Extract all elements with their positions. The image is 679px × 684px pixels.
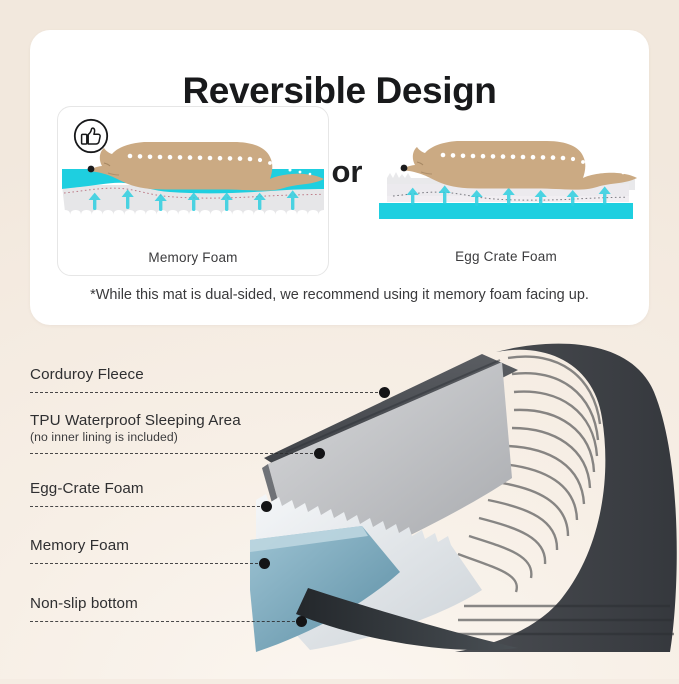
leader-dot-tpu-waterproof xyxy=(314,448,325,459)
panel-label-memory-foam: Memory Foam xyxy=(58,250,328,265)
leader-line-corduroy-fleece xyxy=(30,392,383,393)
spec-tpu-waterproof: TPU Waterproof Sleeping Area (no inner l… xyxy=(30,412,241,444)
reversible-design-card: Reversible Design xyxy=(30,30,649,325)
panel-label-egg-crate-foam: Egg Crate Foam xyxy=(371,249,641,264)
egg-crate-diagram xyxy=(371,106,641,234)
leader-line-egg-crate-foam xyxy=(30,506,265,507)
spec-label: Memory Foam xyxy=(30,537,129,554)
egg-crate-scene xyxy=(371,106,641,234)
leader-line-memory-foam xyxy=(30,563,263,564)
leader-dot-egg-crate-foam xyxy=(261,501,272,512)
spec-corduroy-fleece: Corduroy Fleece xyxy=(30,366,144,383)
panel-memory-foam: Memory Foam xyxy=(57,106,329,276)
dog-nose-icon xyxy=(401,165,408,172)
leader-line-tpu-waterproof xyxy=(30,453,318,454)
leader-dot-non-slip-bottom xyxy=(296,616,307,627)
spec-egg-crate-foam: Egg-Crate Foam xyxy=(30,480,144,497)
spec-sublabel: (no inner lining is included) xyxy=(30,430,241,444)
leader-line-non-slip-bottom xyxy=(30,621,300,622)
spec-label: Non-slip bottom xyxy=(30,595,138,612)
spec-label: Corduroy Fleece xyxy=(30,366,144,383)
divider-or: or xyxy=(325,154,369,190)
dog-nose-icon xyxy=(88,166,95,173)
infographic-page: Reversible Design xyxy=(0,0,679,679)
dog-illustration xyxy=(88,142,324,191)
spec-memory-foam: Memory Foam xyxy=(30,537,129,554)
spec-callouts: Corduroy Fleece TPU Waterproof Sleeping … xyxy=(0,340,679,679)
spec-label: Egg-Crate Foam xyxy=(30,480,144,497)
illustration-row: Memory Foam or xyxy=(30,106,649,288)
panel-egg-crate-foam: Egg Crate Foam xyxy=(371,106,641,274)
leader-dot-corduroy-fleece xyxy=(379,387,390,398)
spec-non-slip-bottom: Non-slip bottom xyxy=(30,595,138,612)
leader-dot-memory-foam xyxy=(259,558,270,569)
thumbs-up-icon xyxy=(72,117,110,155)
spec-label: TPU Waterproof Sleeping Area xyxy=(30,412,241,429)
recommended-badge xyxy=(72,117,110,160)
footnote: *While this mat is dual-sided, we recomm… xyxy=(30,287,649,303)
